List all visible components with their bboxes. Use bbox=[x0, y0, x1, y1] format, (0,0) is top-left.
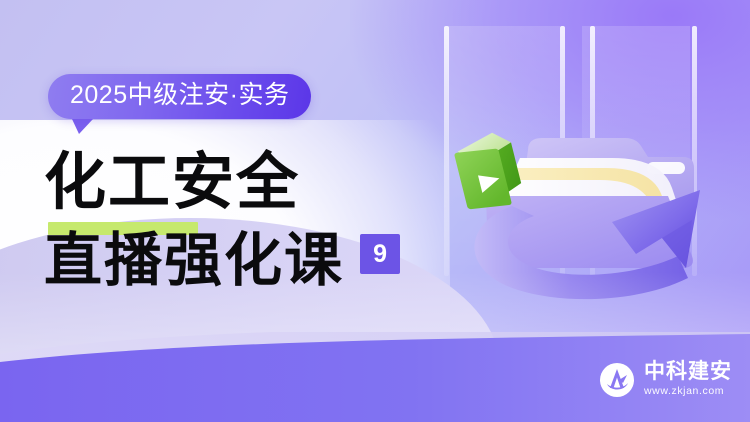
logo-text-block: 中科建安 www.zkjan.com bbox=[644, 361, 732, 398]
circle-peak-logo-icon bbox=[599, 362, 635, 398]
headline-block: 化工安全 直播强化课 9 bbox=[44, 150, 400, 292]
course-illustration bbox=[400, 10, 750, 310]
headline-line-2: 直播强化课 bbox=[44, 230, 344, 292]
headline-line-2-row: 直播强化课 9 bbox=[44, 216, 400, 292]
logo-website-url: www.zkjan.com bbox=[644, 385, 732, 398]
episode-number-badge: 9 bbox=[360, 234, 400, 274]
course-badge: 2025中级注安·实务 bbox=[48, 74, 311, 119]
headline-line-1: 化工安全 bbox=[44, 150, 400, 216]
course-promo-banner: 2025中级注安·实务 化工安全 直播强化课 9 中科建安 www.zkjan.… bbox=[0, 0, 750, 422]
badge-tail bbox=[72, 119, 93, 134]
brand-logo[interactable]: 中科建安 www.zkjan.com bbox=[599, 361, 732, 398]
logo-brand-name: 中科建安 bbox=[644, 361, 732, 383]
